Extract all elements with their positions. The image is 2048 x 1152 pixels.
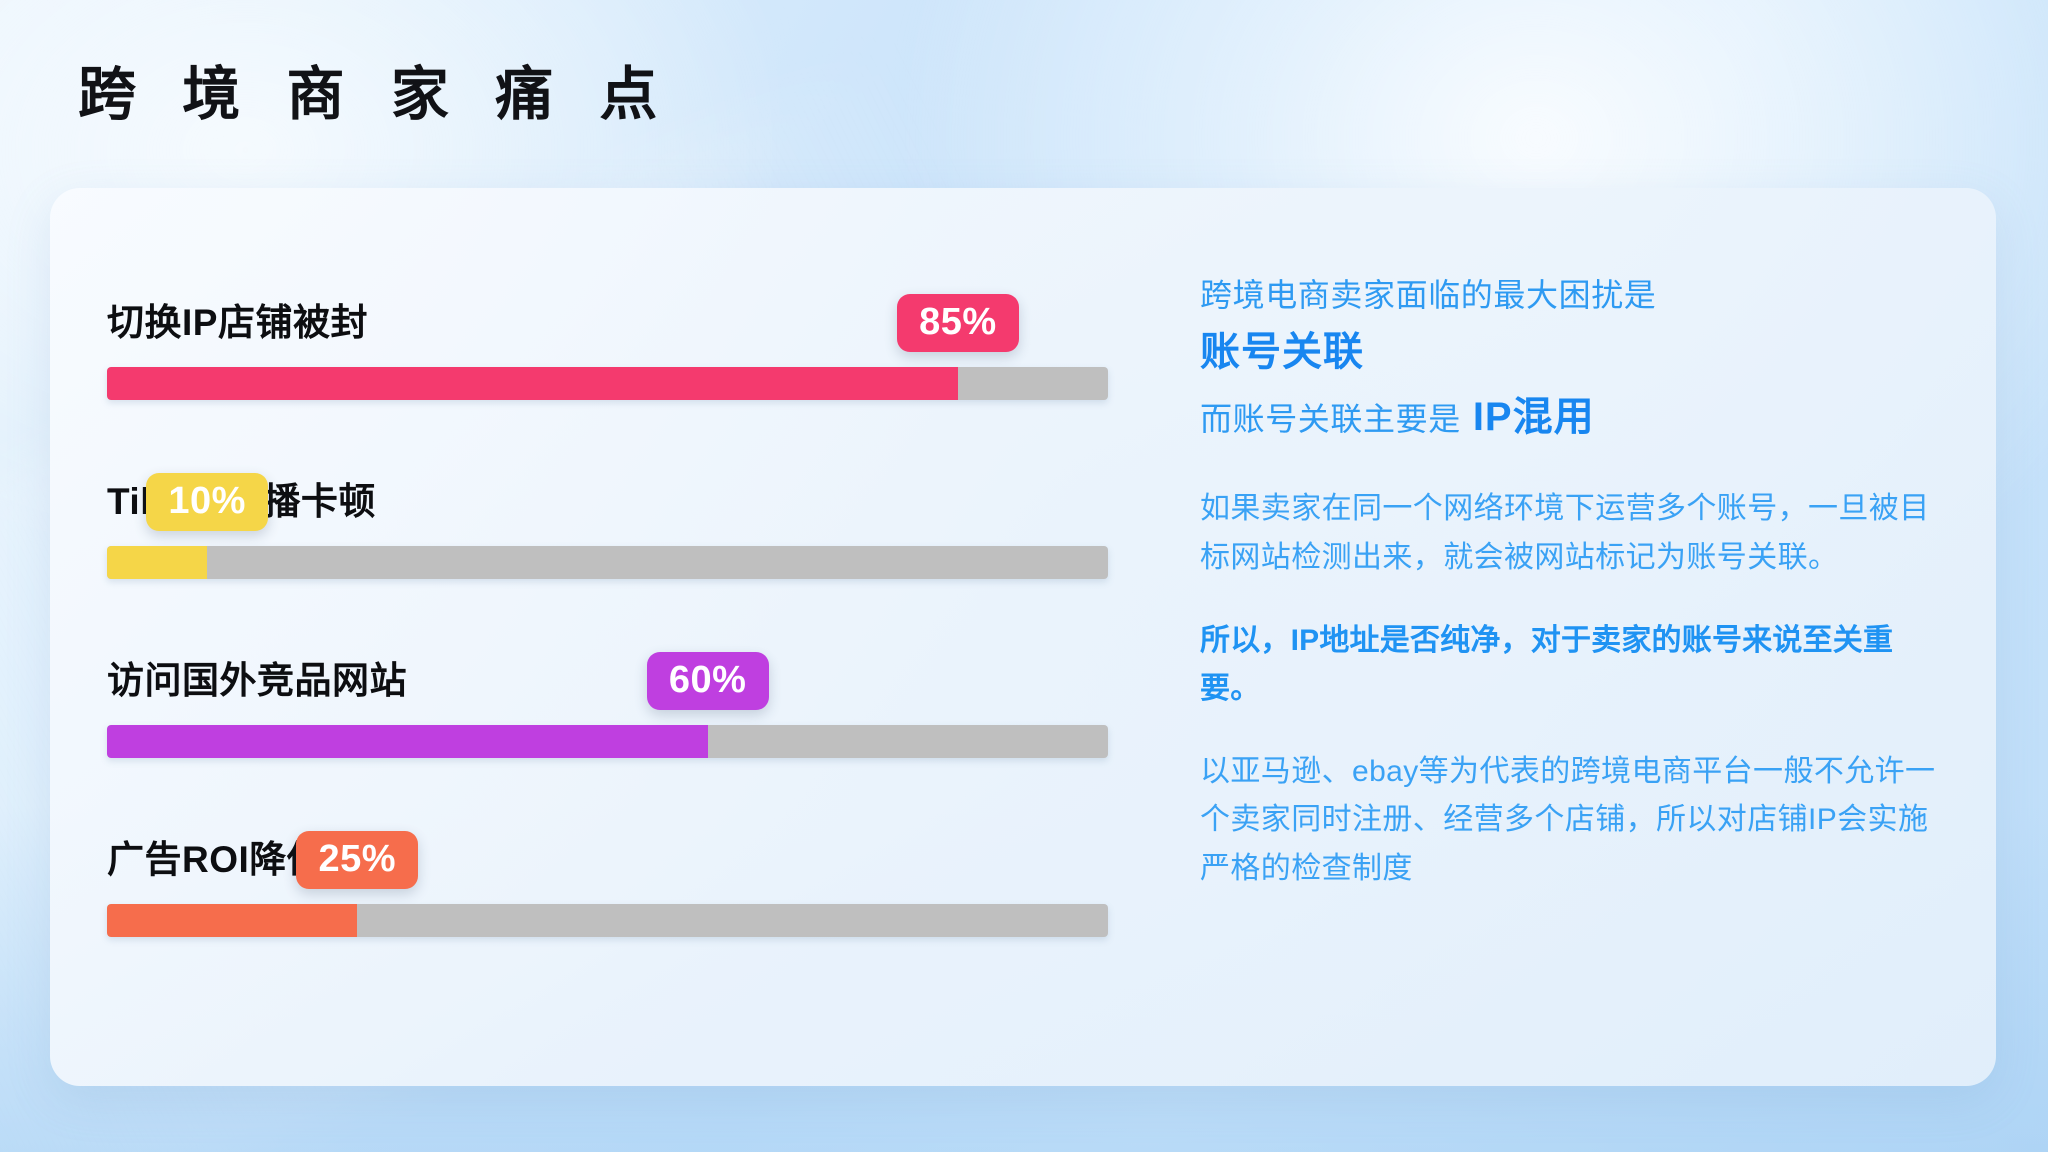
bar-header-2: 访问国外竞品网站 60% xyxy=(107,642,1170,706)
info-mix-line: 而账号关联主要是IP混用 xyxy=(1200,387,1936,447)
bar-fill-0 xyxy=(107,367,958,400)
pain-point-bar-chart: 切换IP店铺被封 85% TikTok直播卡顿 10% 访问国外竞品网站 60% xyxy=(50,188,1170,1086)
info-paragraph-3: 以亚马逊、ebay等为代表的跨境电商平台一般不允许一个卖家同时注册、经营多个店铺… xyxy=(1200,748,1936,894)
info-panel: 跨境电商卖家面临的最大困扰是 账号关联 而账号关联主要是IP混用 如果卖家在同一… xyxy=(1170,188,1996,1086)
bar-track-2 xyxy=(107,725,1108,758)
bar-fill-3 xyxy=(107,904,357,937)
bar-label-3: 广告ROI降低 xyxy=(107,829,324,883)
bar-track-3 xyxy=(107,904,1108,937)
bar-row-0: 切换IP店铺被封 85% xyxy=(107,284,1170,400)
bar-track-0 xyxy=(107,367,1108,400)
bar-fill-2 xyxy=(107,725,708,758)
page-title: 跨 境 商 家 痛 点 xyxy=(78,66,672,124)
bar-value-badge-0: 85% xyxy=(897,294,1019,352)
info-paragraph-1: 如果卖家在同一个网络环境下运营多个账号，一旦被目标网站检测出来，就会被网站标记为… xyxy=(1200,485,1936,582)
bar-label-2: 访问国外竞品网站 xyxy=(107,650,407,704)
bar-value-badge-1: 10% xyxy=(146,473,268,531)
info-paragraph-2: 所以，IP地址是否纯净，对于卖家的账号来说至关重要。 xyxy=(1200,617,1936,714)
bar-row-2: 访问国外竞品网站 60% xyxy=(107,642,1170,758)
bar-row-1: TikTok直播卡顿 10% xyxy=(107,463,1170,579)
content-card: 切换IP店铺被封 85% TikTok直播卡顿 10% 访问国外竞品网站 60% xyxy=(50,188,1996,1086)
info-mix-highlight: IP混用 xyxy=(1473,395,1595,439)
bar-fill-1 xyxy=(107,546,207,579)
info-mix-prefix: 而账号关联主要是 xyxy=(1200,401,1461,437)
bar-header-3: 广告ROI降低 25% xyxy=(107,821,1170,885)
bar-row-3: 广告ROI降低 25% xyxy=(107,821,1170,937)
bar-header-1: TikTok直播卡顿 10% xyxy=(107,463,1170,527)
bar-header-0: 切换IP店铺被封 85% xyxy=(107,284,1170,348)
bar-track-1 xyxy=(107,546,1108,579)
info-headline: 账号关联 xyxy=(1200,323,1936,381)
info-lead: 跨境电商卖家面临的最大困扰是 xyxy=(1200,272,1936,319)
bar-value-badge-3: 25% xyxy=(296,831,418,889)
bar-value-badge-2: 60% xyxy=(647,652,769,710)
bar-label-0: 切换IP店铺被封 xyxy=(107,292,368,346)
